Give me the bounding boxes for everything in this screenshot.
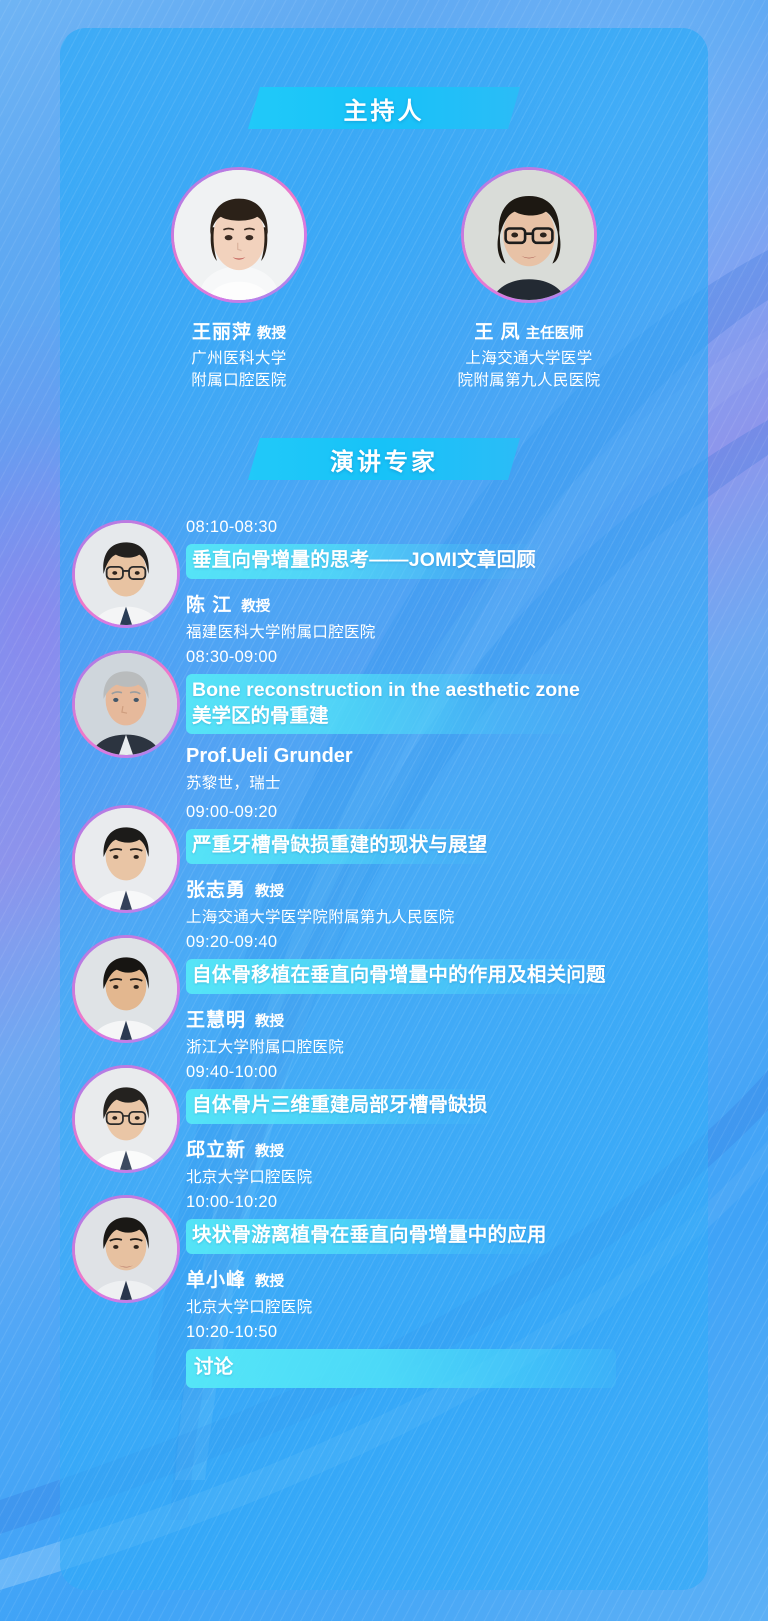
host-title-text: 主任医师 — [526, 326, 584, 342]
avatar-ring — [72, 935, 180, 1043]
session-time: 08:10-08:30 — [186, 518, 694, 537]
host-item: 王 凤主任医师 上海交通大学医学 院附属第九人民医院 — [424, 167, 634, 392]
host-org: 上海交通大学医学 院附属第九人民医院 — [424, 348, 634, 392]
session-speaker-name: 邱立新 — [186, 1140, 246, 1161]
session-speaker: 王慧明教授 — [186, 1005, 694, 1032]
session-org: 苏黎世，瑞士 — [186, 771, 694, 793]
host-item: 王丽萍教授 广州医科大学 附属口腔医院 — [134, 167, 344, 392]
session-speaker-name: 张志勇 — [186, 880, 246, 901]
session-speaker: Prof.Ueli Grunder — [186, 745, 694, 768]
host-name-text: 王 凤 — [474, 322, 520, 343]
session-avatar-col — [66, 1191, 186, 1303]
avatar-ring — [171, 167, 307, 303]
session-speaker: 邱立新教授 — [186, 1135, 694, 1162]
session-topic: 块状骨游离植骨在垂直向骨增量中的应用 — [186, 1219, 557, 1254]
session-speaker-title: 教授 — [255, 1014, 284, 1030]
session-speaker: 单小峰教授 — [186, 1265, 694, 1292]
discussion-topic: 讨论 — [186, 1349, 616, 1388]
session-avatar-col — [66, 801, 186, 913]
host-org-line1: 广州医科大学 — [134, 348, 344, 370]
avatar-wang-feng — [464, 170, 594, 300]
session-speaker-name: 单小峰 — [186, 1270, 246, 1291]
session-time: 09:00-09:20 — [186, 803, 694, 822]
session-time: 08:30-09:00 — [186, 648, 694, 667]
avatar-qiu-lixin — [75, 1068, 177, 1170]
session-body: 08:30-09:00 Bone reconstruction in the a… — [186, 646, 708, 793]
session-topic-en: Bone reconstruction in the aesthetic zon… — [192, 679, 580, 701]
avatar-ring — [461, 167, 597, 303]
session-org: 浙江大学附属口腔医院 — [186, 1035, 694, 1057]
session-speaker-title: 教授 — [255, 1274, 284, 1290]
session-body: 09:00-09:20 严重牙槽骨缺损重建的现状与展望 张志勇教授 上海交通大学… — [186, 801, 708, 927]
host-org-line2: 附属口腔医院 — [134, 370, 344, 392]
discussion-time: 10:20-10:50 — [186, 1323, 694, 1342]
session-avatar-col — [66, 516, 186, 628]
discussion-row[interactable]: 10:20-10:50 讨论 — [60, 1321, 708, 1411]
session-row[interactable]: 09:20-09:40 自体骨移植在垂直向骨增量中的作用及相关问题 王慧明教授 … — [60, 931, 708, 1061]
discussion-avatar-col — [66, 1321, 186, 1325]
avatar-ring — [72, 520, 180, 628]
session-row[interactable]: 10:00-10:20 块状骨游离植骨在垂直向骨增量中的应用 单小峰教授 北京大… — [60, 1191, 708, 1321]
session-row[interactable]: 08:10-08:30 垂直向骨增量的思考——JOMI文章回顾 陈 江教授 福建… — [60, 516, 708, 646]
session-speaker: 陈 江教授 — [186, 590, 694, 617]
avatar-ring — [72, 650, 180, 758]
session-avatar-col — [66, 931, 186, 1043]
session-time: 09:20-09:40 — [186, 933, 694, 952]
session-speaker-name: 王慧明 — [186, 1010, 246, 1031]
poster-root: 主持人 — [0, 0, 768, 1621]
session-speaker: 张志勇教授 — [186, 875, 694, 902]
avatar-ring — [72, 1195, 180, 1303]
session-row[interactable]: 08:30-09:00 Bone reconstruction in the a… — [60, 646, 708, 801]
session-speaker-title: 教授 — [241, 599, 270, 615]
session-avatar-col — [66, 646, 186, 758]
session-speaker-title: 教授 — [255, 884, 284, 900]
discussion-body: 10:20-10:50 讨论 — [186, 1321, 708, 1388]
schedule-card: 主持人 — [60, 28, 708, 1590]
avatar-shan-xiaofeng — [75, 1198, 177, 1300]
avatar-wang-huiming — [75, 938, 177, 1040]
session-topic: 自体骨移植在垂直向骨增量中的作用及相关问题 — [186, 959, 616, 994]
avatar-ueli-grunder — [75, 653, 177, 755]
hosts-heading-label: 主持人 — [344, 91, 425, 126]
session-topic-zh: 美学区的骨重建 — [192, 704, 580, 730]
session-time: 10:00-10:20 — [186, 1193, 694, 1212]
session-org: 北京大学口腔医院 — [186, 1165, 694, 1187]
session-row[interactable]: 09:00-09:20 严重牙槽骨缺损重建的现状与展望 张志勇教授 上海交通大学… — [60, 801, 708, 931]
hosts-heading-ribbon: 主持人 — [248, 87, 520, 129]
session-org: 上海交通大学医学院附属第九人民医院 — [186, 905, 694, 927]
session-body: 08:10-08:30 垂直向骨增量的思考——JOMI文章回顾 陈 江教授 福建… — [186, 516, 708, 642]
session-topic: 自体骨片三维重建局部牙槽骨缺损 — [186, 1089, 498, 1124]
session-speaker-name: 陈 江 — [186, 595, 232, 616]
session-body: 09:20-09:40 自体骨移植在垂直向骨增量中的作用及相关问题 王慧明教授 … — [186, 931, 708, 1057]
session-topic: 垂直向骨增量的思考——JOMI文章回顾 — [186, 544, 546, 579]
host-name: 王丽萍教授 — [134, 317, 344, 344]
session-time: 09:40-10:00 — [186, 1063, 694, 1082]
host-title-text: 教授 — [257, 326, 286, 342]
host-org-line1: 上海交通大学医学 — [424, 348, 634, 370]
host-name: 王 凤主任医师 — [424, 317, 634, 344]
session-org: 北京大学口腔医院 — [186, 1295, 694, 1317]
host-name-text: 王丽萍 — [192, 322, 252, 343]
session-row[interactable]: 09:40-10:00 自体骨片三维重建局部牙槽骨缺损 邱立新教授 北京大学口腔… — [60, 1061, 708, 1191]
session-body: 09:40-10:00 自体骨片三维重建局部牙槽骨缺损 邱立新教授 北京大学口腔… — [186, 1061, 708, 1187]
speakers-heading-label: 演讲专家 — [330, 442, 438, 477]
speakers-heading-ribbon: 演讲专家 — [248, 438, 520, 480]
avatar-chen-jiang — [75, 523, 177, 625]
session-topic: Bone reconstruction in the aesthetic zon… — [186, 674, 590, 734]
session-avatar-col — [66, 1061, 186, 1173]
avatar-ring — [72, 805, 180, 913]
avatar-wang-liping — [174, 170, 304, 300]
host-org: 广州医科大学 附属口腔医院 — [134, 348, 344, 392]
session-body: 10:00-10:20 块状骨游离植骨在垂直向骨增量中的应用 单小峰教授 北京大… — [186, 1191, 708, 1317]
avatar-ring — [72, 1065, 180, 1173]
avatar-zhang-zhiyong — [75, 808, 177, 910]
host-org-line2: 院附属第九人民医院 — [424, 370, 634, 392]
session-speaker-title: 教授 — [255, 1144, 284, 1160]
session-speaker-name: Prof.Ueli Grunder — [186, 745, 353, 767]
hosts-list: 王丽萍教授 广州医科大学 附属口腔医院 — [60, 167, 708, 392]
session-topic: 严重牙槽骨缺损重建的现状与展望 — [186, 829, 498, 864]
session-list: 08:10-08:30 垂直向骨增量的思考——JOMI文章回顾 陈 江教授 福建… — [60, 516, 708, 1411]
session-org: 福建医科大学附属口腔医院 — [186, 620, 694, 642]
